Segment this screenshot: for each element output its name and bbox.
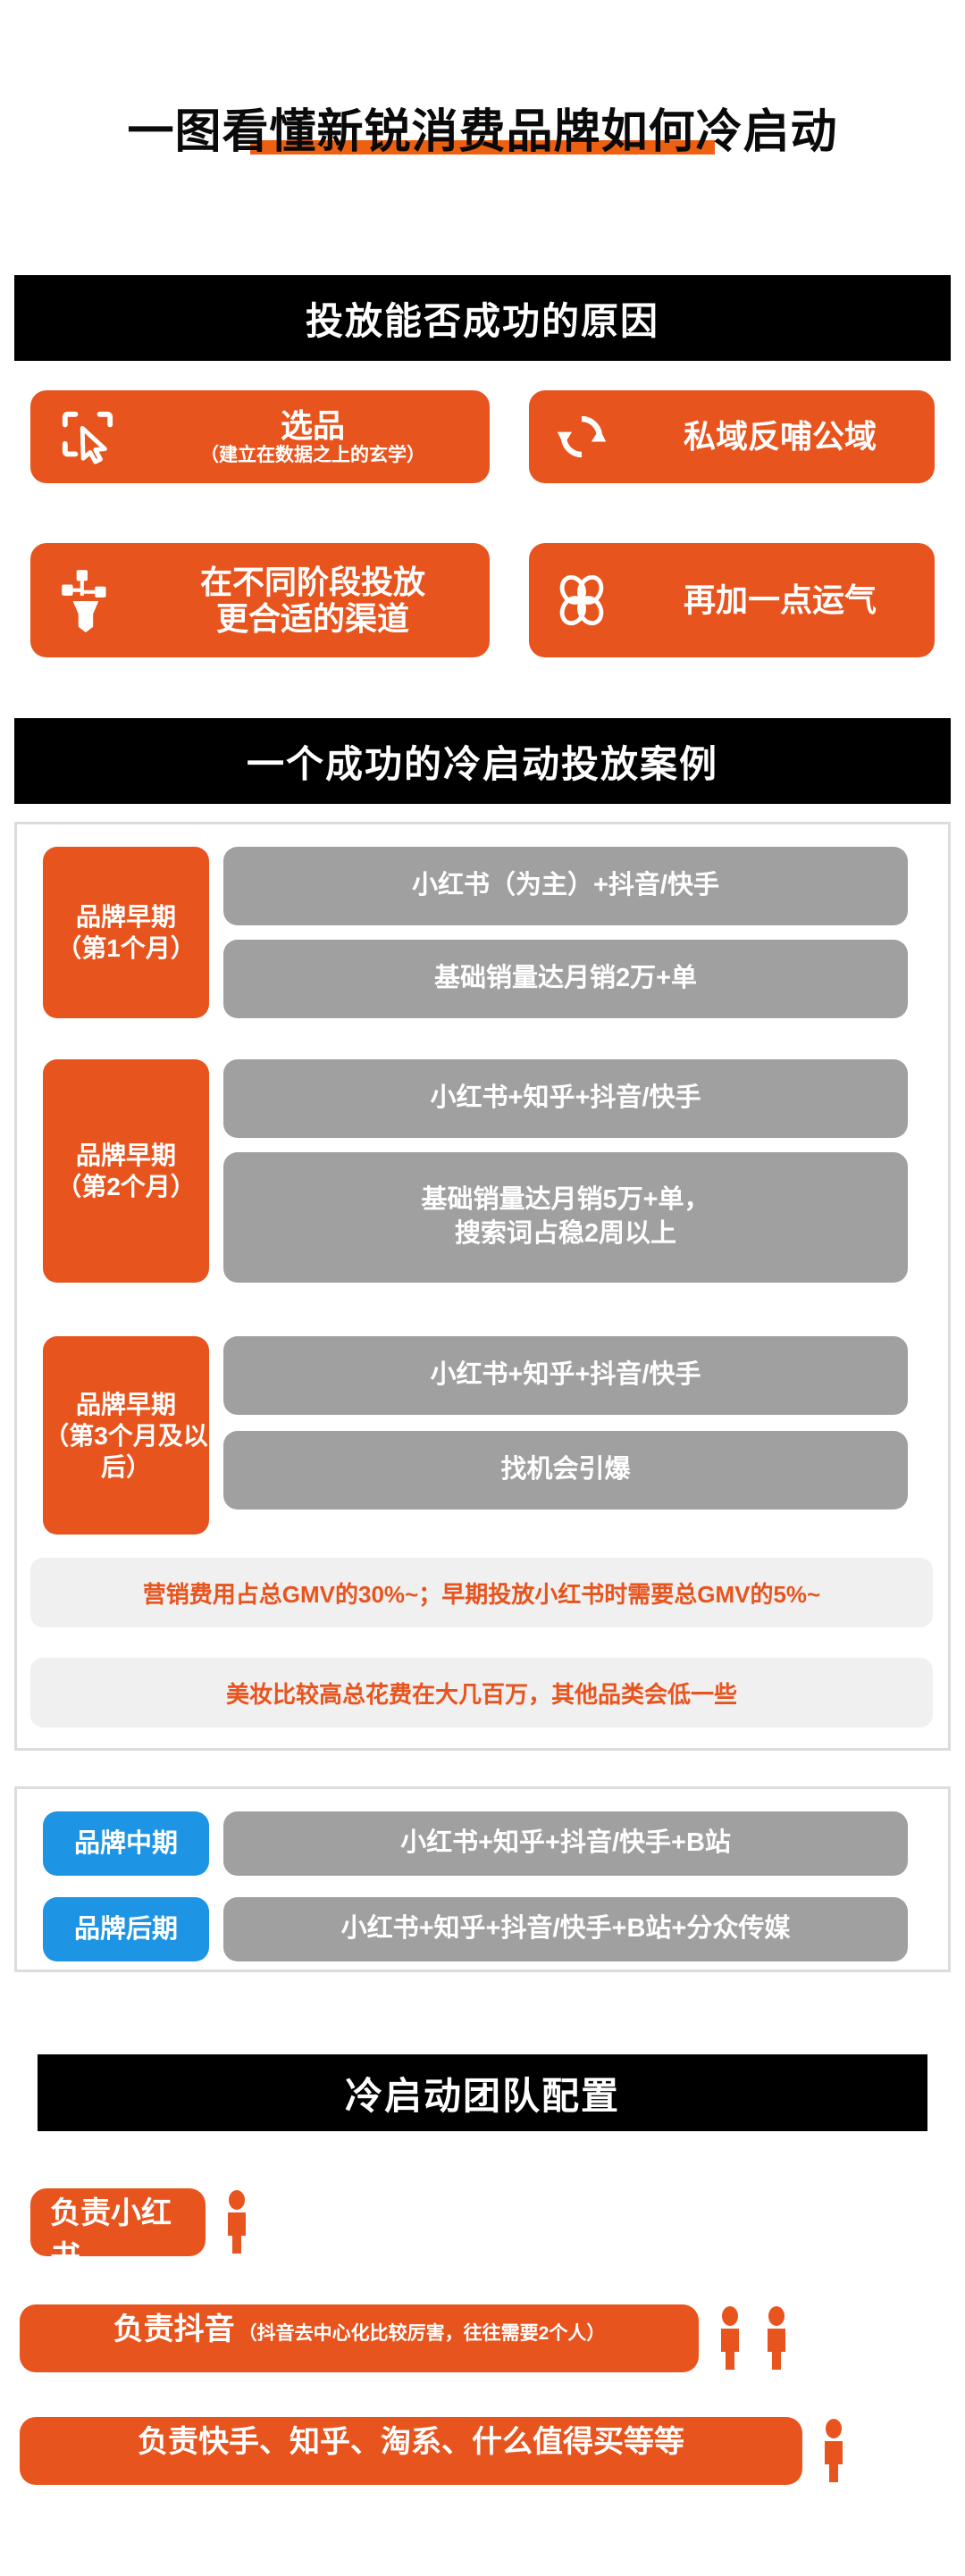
- team-card-xiaohongshu-label: 负责小红书: [50, 2188, 186, 2276]
- person-count-1: [818, 2419, 849, 2483]
- person-icon: [761, 2306, 792, 2371]
- stage-label-month3-line1: 品牌早期: [76, 1389, 176, 1420]
- person-icon: [222, 2190, 252, 2254]
- team-card-douyin-label: 负责抖音: [113, 2304, 235, 2348]
- case-pill-channels: 小红书+知乎+抖音/快手: [223, 1336, 908, 1415]
- person-icon: [818, 2419, 849, 2483]
- infographic-page: 一图看懂新锐消费品牌如何冷启动 投放能否成功的原因 选品 （建立在数据之上的玄学…: [0, 0, 965, 2576]
- team-card-douyin[interactable]: 负责抖音 （抖音去中心化比较厉害，往往需要2个人）: [20, 2304, 699, 2372]
- reason-card-3-title-line2: 更合适的渠道: [216, 600, 409, 637]
- case-note-budget: 营销费用占总GMV的30%~；早期投放小红书时需要总GMV的5%~: [30, 1558, 933, 1627]
- stage-label-month3: 品牌早期 （第3个月及以后）: [43, 1336, 209, 1535]
- team-row-douyin: 负责抖音 （抖音去中心化比较厉害，往往需要2个人）: [20, 2304, 792, 2372]
- stage-label-month2-line2: （第2个月）: [56, 1171, 196, 1202]
- reason-card-luck[interactable]: 再加一点运气: [529, 543, 935, 657]
- case-row-month3-pills: 小红书+知乎+抖音/快手 找机会引爆: [223, 1336, 908, 1535]
- reason-card-1-title: 选品: [281, 407, 345, 444]
- reason-card-2-text: 私域反哺公域: [634, 418, 935, 455]
- case-pill-target-line1: 基础销量达月销5万+单，: [421, 1185, 709, 1214]
- team-row-others: 负责快手、知乎、淘系、什么值得买等等: [20, 2417, 849, 2485]
- team-card-douyin-note: （抖音去中心化比较厉害，往往需要2个人）: [239, 2319, 606, 2346]
- funnel-network-icon: [30, 566, 145, 634]
- reason-card-channel-by-stage[interactable]: 在不同阶段投放 更合适的渠道: [30, 543, 490, 657]
- refresh-cycle-icon: [529, 411, 634, 463]
- person-count-1: [222, 2190, 252, 2254]
- person-icon: [715, 2306, 745, 2371]
- reason-card-2-title: 私域反哺公域: [684, 418, 877, 455]
- case-pill-target: 基础销量达月销2万+单: [223, 940, 908, 1018]
- stage-label-month1-line1: 品牌早期: [76, 901, 176, 933]
- case-row-late-stage: 品牌后期 小红书+知乎+抖音/快手+B站+分众传媒: [43, 1897, 908, 1961]
- stage-label-month2-line1: 品牌早期: [76, 1140, 176, 1171]
- case-row-month1-pills: 小红书（为主）+抖音/快手 基础销量达月销2万+单: [223, 847, 908, 1018]
- person-count-2: [715, 2306, 792, 2371]
- team-card-others-label: 负责快手、知乎、淘系、什么值得买等等: [138, 2417, 684, 2461]
- case-row-mid-stage: 品牌中期 小红书+知乎+抖音/快手+B站: [43, 1811, 908, 1876]
- case-row-month2-pills: 小红书+知乎+抖音/快手 基础销量达月销5万+单， 搜索词占稳2周以上: [223, 1059, 908, 1283]
- case-pill-channels: 小红书+知乎+抖音/快手: [223, 1059, 908, 1138]
- team-row-xiaohongshu: 负责小红书: [30, 2188, 252, 2256]
- stage-label-month1: 品牌早期 （第1个月）: [43, 847, 209, 1018]
- case-pill-mid-channels: 小红书+知乎+抖音/快手+B站: [223, 1811, 908, 1876]
- case-row-month1: 品牌早期 （第1个月） 小红书（为主）+抖音/快手 基础销量达月销2万+单: [43, 847, 908, 1018]
- reason-card-1-text: 选品 （建立在数据之上的玄学）: [145, 407, 490, 467]
- stage-label-month3-line2: （第3个月及以后）: [43, 1420, 209, 1483]
- stage-label-month1-line2: （第1个月）: [56, 933, 196, 964]
- case-row-month3: 品牌早期 （第3个月及以后） 小红书+知乎+抖音/快手 找机会引爆: [43, 1336, 908, 1535]
- case-pill-target-line2: 搜索词占稳2周以上: [455, 1219, 676, 1248]
- reason-card-4-title: 再加一点运气: [684, 581, 877, 618]
- reason-card-1-subtitle: （建立在数据之上的玄学）: [200, 445, 425, 465]
- stage-label-month2: 品牌早期 （第2个月）: [43, 1059, 209, 1283]
- case-note-category: 美妆比较高总花费在大几百万，其他品类会低一些: [30, 1658, 933, 1727]
- section-heading-case: 一个成功的冷启动投放案例: [14, 718, 951, 804]
- spacer: [209, 847, 223, 1018]
- page-title: 一图看懂新锐消费品牌如何冷启动: [0, 105, 965, 160]
- section-heading-reasons: 投放能否成功的原因: [14, 275, 951, 361]
- team-card-others[interactable]: 负责快手、知乎、淘系、什么值得买等等: [20, 2417, 802, 2485]
- reason-card-product-selection[interactable]: 选品 （建立在数据之上的玄学）: [30, 390, 490, 483]
- reason-card-private-to-public-domain[interactable]: 私域反哺公域: [529, 390, 935, 483]
- reason-card-3-text: 在不同阶段投放 更合适的渠道: [145, 564, 490, 638]
- case-pill-target: 基础销量达月销5万+单， 搜索词占稳2周以上: [223, 1152, 908, 1283]
- stage-label-mid: 品牌中期: [43, 1811, 209, 1876]
- reason-card-4-text: 再加一点运气: [634, 581, 935, 618]
- stage-label-late: 品牌后期: [43, 1897, 209, 1961]
- section-heading-team: 冷启动团队配置: [38, 2054, 927, 2131]
- case-pill-late-channels: 小红书+知乎+抖音/快手+B站+分众传媒: [223, 1897, 908, 1961]
- case-row-month2: 品牌早期 （第2个月） 小红书+知乎+抖音/快手 基础销量达月销5万+单， 搜索…: [43, 1059, 908, 1283]
- case-pill-target: 找机会引爆: [223, 1431, 908, 1510]
- reason-card-3-title-line1: 在不同阶段投放: [200, 564, 425, 600]
- clover-icon: [529, 573, 634, 628]
- spacer: [209, 1336, 223, 1535]
- spacer: [209, 1059, 223, 1283]
- team-card-xiaohongshu[interactable]: 负责小红书: [30, 2188, 206, 2256]
- case-pill-channels: 小红书（为主）+抖音/快手: [223, 847, 908, 925]
- select-cursor-icon: [30, 409, 145, 464]
- title-text: 一图看懂新锐消费品牌如何冷启动: [127, 106, 837, 158]
